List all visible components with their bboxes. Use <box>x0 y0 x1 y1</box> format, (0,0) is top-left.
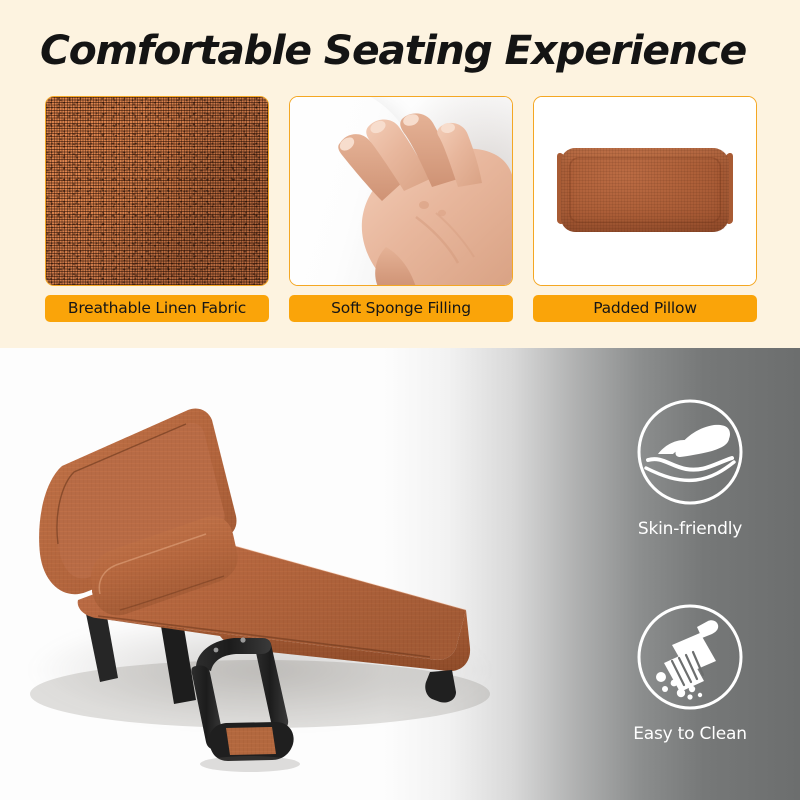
chaise-lounge-convertible-sofa-bed <box>0 348 560 800</box>
feature-card-linen-fabric: Breathable Linen Fabric <box>45 96 269 324</box>
feature-card-padded-pillow: Padded Pillow <box>533 96 757 324</box>
benefit-skin-friendly: Skin-friendly <box>600 396 780 539</box>
linen-fabric-swatch-image <box>45 96 269 286</box>
benefit-caption-easy-to-clean: Easy to Clean <box>600 724 780 744</box>
product-feature-infographic: Comfortable Seating Experience Breathabl… <box>0 0 800 800</box>
benefit-caption-skin-friendly: Skin-friendly <box>600 519 780 539</box>
sofa-illustration <box>0 348 560 800</box>
hand-pressing-sponge-illustration <box>290 97 513 286</box>
feature-label-linen-fabric: Breathable Linen Fabric <box>45 295 269 322</box>
linen-weave-texture <box>46 97 268 285</box>
hand-over-wave-icon <box>634 396 746 508</box>
brush-dust-icon <box>634 601 746 713</box>
features-panel: Comfortable Seating Experience Breathabl… <box>0 0 800 348</box>
pillow-body <box>561 148 730 233</box>
feature-card-sponge-filling: Soft Sponge Filling <box>289 96 513 324</box>
page-title: Comfortable Seating Experience <box>40 26 800 76</box>
feature-label-sponge-filling: Soft Sponge Filling <box>289 295 513 322</box>
benefit-icon-column: Skin-friendly <box>600 396 780 744</box>
benefit-easy-to-clean: Easy to Clean <box>600 601 780 744</box>
product-scene-panel: Skin-friendly <box>0 348 800 800</box>
padded-pillow-image <box>533 96 757 286</box>
feature-label-padded-pillow: Padded Pillow <box>533 295 757 322</box>
sponge-filling-hand-press-image <box>289 96 513 286</box>
pillow-stage <box>534 97 756 285</box>
feature-card-row: Breathable Linen Fabric <box>45 96 757 324</box>
